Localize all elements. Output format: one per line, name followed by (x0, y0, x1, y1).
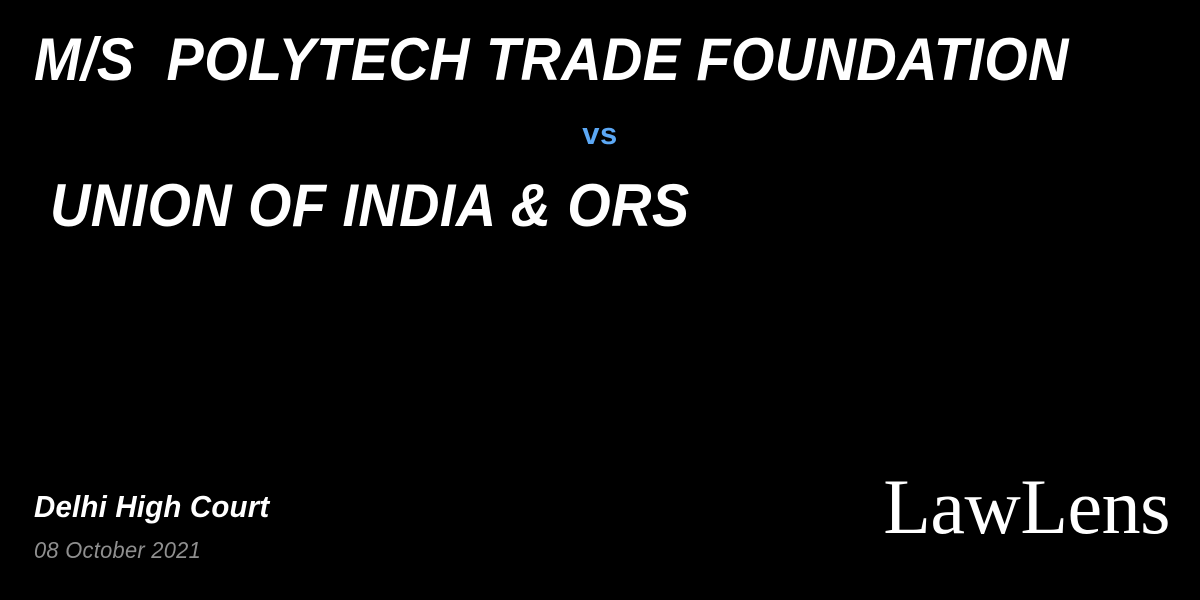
case-title-card: M/S POLYTECH TRADE FOUNDATION vs UNION O… (0, 0, 1200, 600)
judgment-date: 08 October 2021 (34, 539, 269, 562)
card-footer: Delhi High Court 08 October 2021 LawLens (0, 440, 1200, 600)
versus-separator: vs (0, 118, 1200, 149)
court-name: Delhi High Court (34, 490, 269, 525)
court-info-block: Delhi High Court 08 October 2021 (34, 490, 282, 562)
petitioner-name: M/S POLYTECH TRADE FOUNDATION (34, 30, 1069, 90)
respondent-name: UNION OF INDIA & ORS (34, 176, 690, 236)
lawlens-logo: LawLens (883, 468, 1170, 546)
